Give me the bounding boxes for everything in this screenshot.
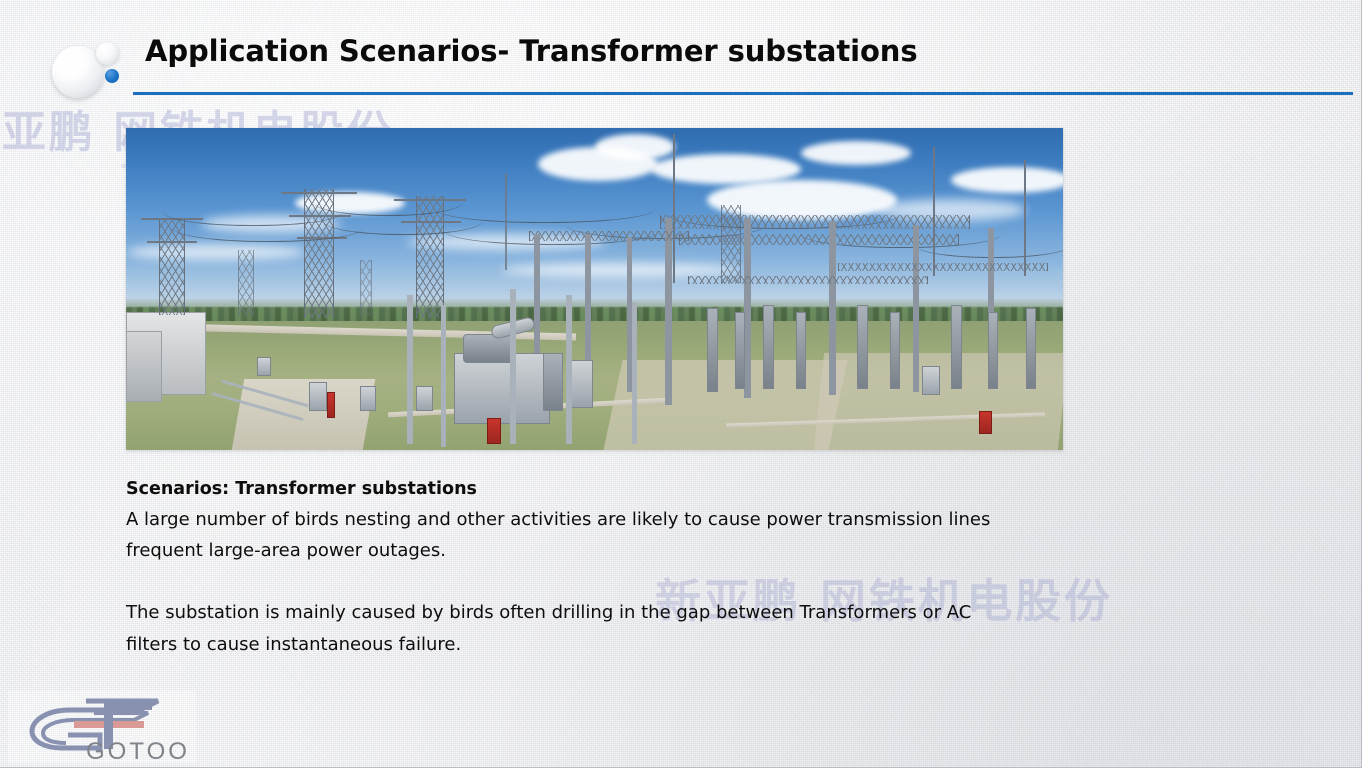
field-cabinet [309,382,327,411]
insulator-stack [735,312,745,389]
transmission-tower-distant [238,250,254,314]
busbar-frame [688,276,928,284]
gotoo-wordmark: GOTOO [86,738,190,763]
insulator-stack [763,305,774,389]
decorative-sphere-large [52,46,104,98]
cloud [951,167,1063,193]
tower-crossarm [147,241,197,243]
insulator-stack [951,305,962,389]
power-transformer [454,353,550,424]
support-pole [632,302,637,444]
cloud [126,244,306,260]
support-pole [441,305,446,447]
tower-crossarm [281,192,357,194]
gantry-beam [529,231,689,241]
insulator-stack [796,312,806,389]
scenario-heading: Scenarios: Transformer substations [126,478,1006,502]
gotoo-logo: GOTOO [8,691,196,763]
lightning-mast [933,147,935,276]
gotoo-logo-mark: GOTOO [8,691,196,763]
red-marker-box [327,392,335,418]
tower-crossarm [394,199,466,201]
gantry-column [665,218,672,405]
scenario-paragraph-2: The substation is mainly caused by birds… [126,597,1006,660]
transmission-tower-distant [360,260,372,315]
red-marker-box [979,411,992,434]
title-underline-rule [133,92,1353,95]
insulator-stack [857,305,868,389]
support-pole [407,295,413,443]
insulator-stack [988,312,998,389]
field-cabinet [360,386,376,412]
insulator-stack [707,308,718,392]
red-marker-box [487,418,501,444]
lightning-mast [1024,160,1026,276]
support-pole [566,295,572,443]
gantry-column [913,225,919,392]
transformer-cabinet [571,360,593,408]
insulator-stack [1026,308,1036,389]
gantry-beam [660,215,970,229]
substation-photo [126,128,1063,450]
cloud [801,141,911,165]
body-copy: Scenarios: Transformer substations A lar… [126,478,1006,660]
field-cabinet [416,386,433,412]
slide-canvas: 亚鹏网铁机电股份 亚鹏 网铁机电股份 新亚鹏 网铁机电股份 Applicatio… [0,0,1362,768]
field-cabinet [922,366,940,395]
decorative-sphere-small [96,42,119,65]
transformer-bushing-housing [463,334,515,363]
photo-gravel [604,360,848,450]
decorative-blue-dot [105,69,119,83]
lightning-mast [505,173,507,270]
support-pole [510,289,516,444]
field-cabinet [257,357,271,376]
control-building-annex [126,331,162,402]
gantry-column [829,221,836,395]
insulator-stack [890,312,900,389]
page-title: Application Scenarios- Transformer subst… [145,34,917,68]
lightning-mast [673,134,675,282]
substation-photo-scene [126,128,1063,450]
busbar-frame [838,263,1048,271]
scenario-paragraph-1: A large number of birds nesting and othe… [126,504,1006,567]
transformer-cabinet [543,353,563,411]
gantry-column [744,218,751,398]
